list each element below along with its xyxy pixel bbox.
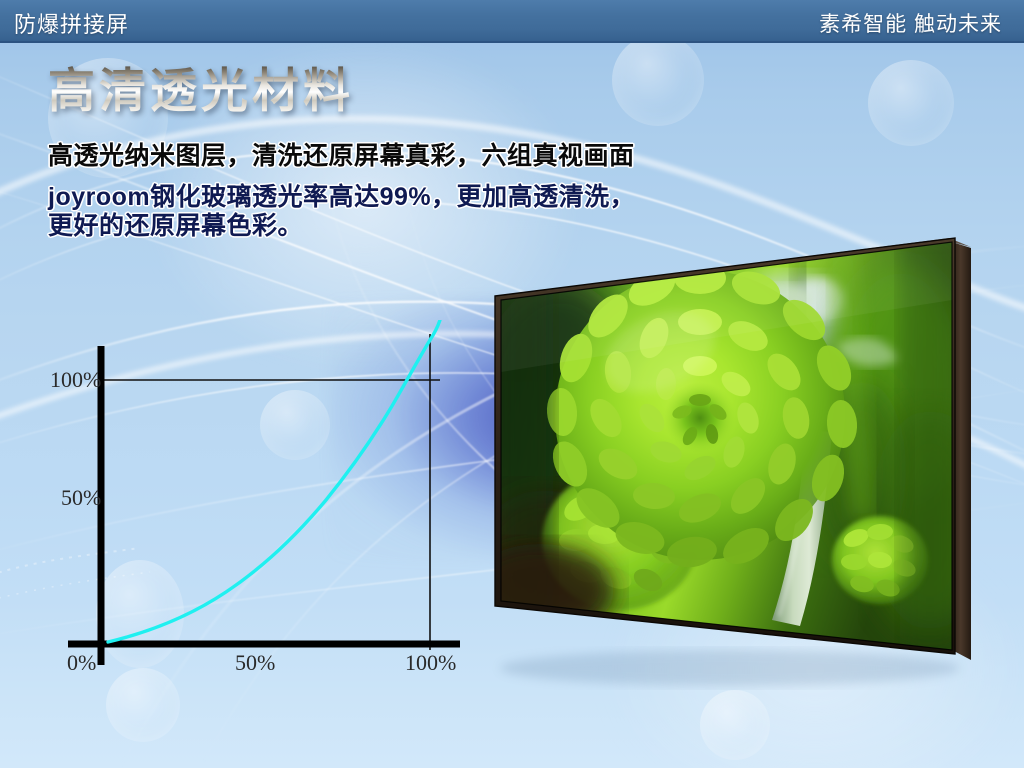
top-header-bar: 防爆拼接屏 素希智能 触动未来 <box>0 0 1024 43</box>
body-copy-line-3: 更好的还原屏幕色彩。 <box>48 206 303 242</box>
monitor-screen <box>466 236 990 660</box>
page-title: 高清透光材料 <box>48 52 354 121</box>
monitor-shadow <box>500 650 960 686</box>
slide-canvas: 防爆拼接屏 素希智能 触动未来 高清透光材料 高透光纳米图层，清洗还原屏幕真彩，… <box>0 0 1024 768</box>
brand-product-title: 防爆拼接屏 <box>14 7 129 39</box>
body-copy-line-1: 高透光纳米图层，清洗还原屏幕真彩，六组真视画面 <box>48 136 635 172</box>
brand-slogan: 素希智能 触动未来 <box>819 8 1002 38</box>
